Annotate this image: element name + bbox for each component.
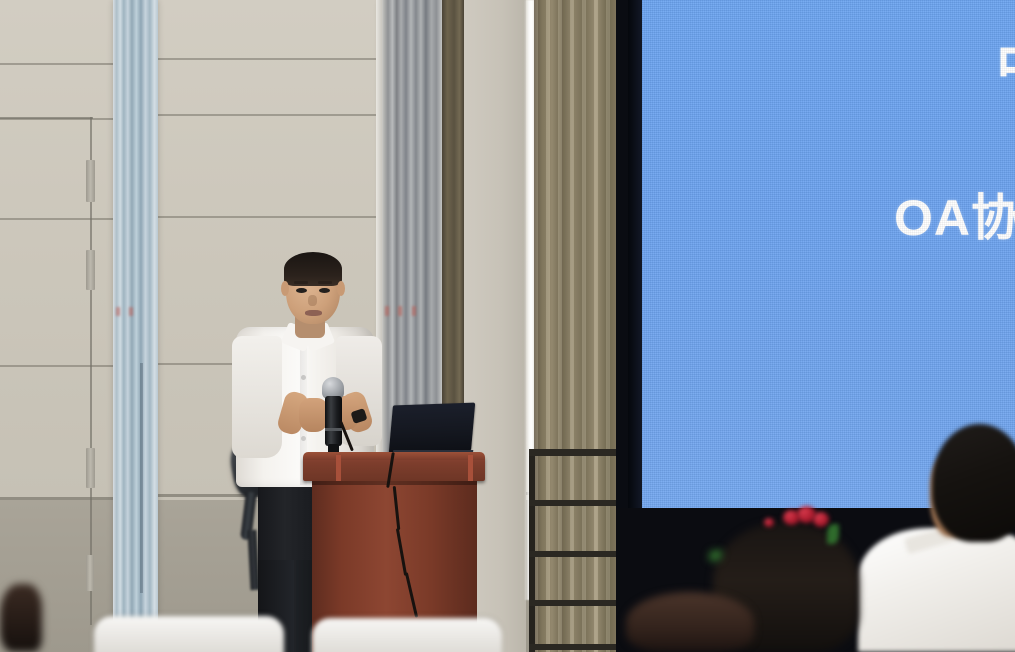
shirt-button: [301, 375, 306, 380]
door-hinge: [86, 555, 94, 591]
presenter-sleeve-left: [232, 336, 282, 458]
rack-rung: [529, 551, 628, 557]
wall-seam: [0, 218, 116, 220]
shirt-button: [301, 436, 306, 441]
door-hinge: [86, 160, 95, 202]
presenter-nose: [308, 295, 317, 306]
podium-shadow-line: [312, 481, 477, 485]
rack-rung: [529, 644, 628, 650]
pillar-shadow-line: [140, 363, 143, 593]
foreground-person-hair: [0, 584, 42, 652]
wall-seam: [270, 58, 380, 60]
pillar-marking: [129, 307, 133, 316]
wall-seam: [0, 497, 120, 500]
rack-rung: [529, 449, 628, 456]
door-frame-top: [0, 117, 93, 119]
wall-seam: [155, 216, 380, 218]
audience-member-head: [626, 592, 754, 652]
door-hinge: [86, 448, 95, 488]
laptop-screen[interactable]: [389, 403, 476, 454]
wall-seam: [0, 63, 115, 65]
presenter-mouth: [305, 310, 322, 316]
metal-pillar-center: [380, 0, 442, 470]
foreground-chair-back: [312, 618, 502, 652]
wall-seam: [155, 58, 270, 60]
pillar-marking: [398, 306, 402, 316]
conference-room-photo: 中 OA协同: [0, 0, 1015, 652]
rose-leaf: [827, 524, 839, 544]
presenter-eyebrow-left: [294, 281, 308, 284]
presenter-eye-left: [296, 288, 307, 293]
rack-rung: [529, 600, 628, 606]
rack-rung: [529, 500, 628, 506]
rose-leaf: [709, 550, 722, 561]
screen-heading-line2: OA协同: [894, 178, 1015, 250]
audience-member-head: [932, 424, 1015, 542]
screen-left-bezel: [628, 0, 642, 508]
rose-flower: [813, 512, 829, 527]
presenter-eye-right: [319, 288, 330, 293]
presenter-ear-left: [281, 281, 289, 296]
presenter-hair: [284, 252, 342, 286]
audience-member-shirt: [858, 528, 1015, 652]
pillar-marking: [412, 306, 416, 316]
glass-pillar-left: [113, 0, 158, 652]
podium-accent-left: [336, 455, 341, 481]
foreground-chair-back: [94, 616, 284, 652]
rose-flower: [764, 518, 774, 527]
wall-seam: [0, 365, 116, 367]
wall-seam: [155, 114, 380, 116]
pillar-marking: [116, 307, 120, 316]
presenter-ear-right: [337, 281, 345, 296]
door-hinge: [86, 250, 95, 290]
microphone-ring: [325, 428, 342, 431]
podium-accent-right: [468, 455, 473, 481]
screen-heading-line1: 中: [996, 22, 1015, 103]
pillar-marking: [385, 306, 389, 316]
presenter-eyebrow-right: [318, 281, 332, 284]
